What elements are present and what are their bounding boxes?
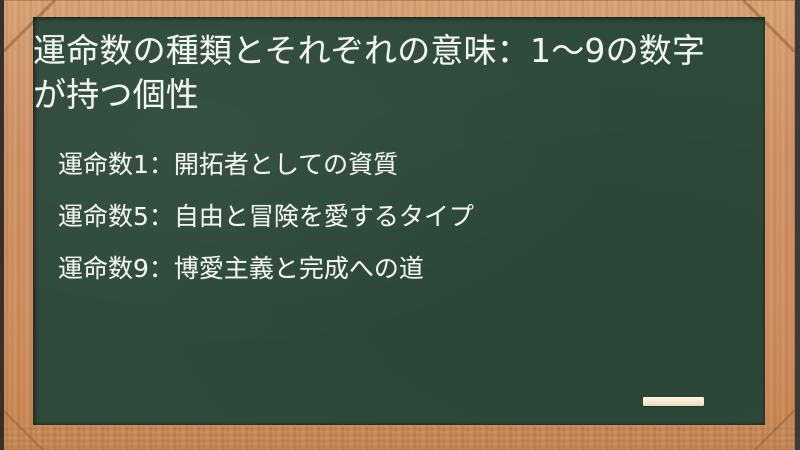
board-title: 運命数の種類とそれぞれの意味：1〜9の数字が持つ個性 <box>33 29 733 117</box>
board-line: 運命数1：開拓者としての資質 <box>58 139 748 191</box>
chalkboard: 運命数の種類とそれぞれの意味：1〜9の数字が持つ個性 運命数1：開拓者としての資… <box>33 17 765 425</box>
frame-edge-right <box>795 0 800 450</box>
board-line: 運命数9：博愛主義と完成への道 <box>58 243 748 295</box>
slide-canvas: 運命数の種類とそれぞれの意味：1〜9の数字が持つ個性 運命数1：開拓者としての資… <box>0 0 800 450</box>
frame-edge-left <box>0 0 4 450</box>
board-line: 運命数5：自由と冒険を愛するタイプ <box>58 191 748 243</box>
board-line-list: 運命数1：開拓者としての資質 運命数5：自由と冒険を愛するタイプ 運命数9：博愛… <box>58 139 748 295</box>
chalk-stick-icon <box>643 397 704 406</box>
frame-bottom-grain <box>3 424 795 450</box>
